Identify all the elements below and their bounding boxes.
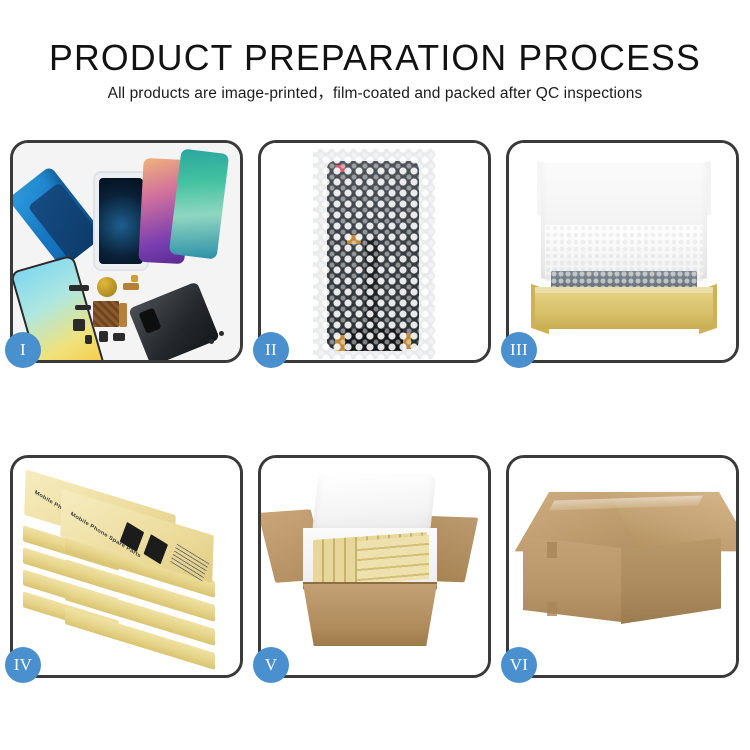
camera-module-icon — [73, 319, 85, 331]
screw-2-icon — [209, 339, 214, 344]
step-badge-3: III — [501, 332, 537, 368]
gold-box-tray-icon — [535, 293, 713, 329]
step-panel-3[interactable]: III — [506, 140, 739, 363]
small-part-icon — [69, 285, 89, 291]
step-panel-6[interactable]: VI — [506, 455, 739, 678]
step-badge-5: V — [253, 647, 289, 683]
step-image-6 — [509, 458, 736, 675]
screw-3-icon — [219, 331, 224, 336]
step-panel-1[interactable]: I — [10, 140, 243, 363]
step-image-3 — [509, 143, 736, 360]
steps-grid: I II — [10, 140, 740, 685]
carton-seam-top-icon — [547, 542, 557, 558]
step-badge-4: IV — [5, 647, 41, 683]
step-panel-4[interactable]: Mobile Phone Spare Parts Mobile Phone Sp… — [10, 455, 243, 678]
product-preparation-infographic: PRODUCT PREPARATION PROCESS All products… — [0, 0, 750, 750]
vibrator-icon — [113, 333, 125, 341]
connector-icon — [75, 305, 91, 310]
flex-cable-icon — [123, 283, 139, 290]
step-badge-6: VI — [501, 647, 537, 683]
shipping-carton — [523, 492, 721, 642]
step-image-2 — [261, 143, 488, 360]
box-artwork-icon — [143, 534, 168, 564]
page-subtitle: All products are image-printed，film-coat… — [0, 86, 750, 102]
screw-icon — [131, 275, 138, 282]
step-panel-2[interactable]: II — [258, 140, 491, 363]
phone-back-cover-icon — [128, 281, 220, 360]
carton-front-icon — [303, 584, 437, 646]
step-image-4: Mobile Phone Spare Parts Mobile Phone Sp… — [13, 458, 240, 675]
flex-cable-2-icon — [119, 303, 127, 327]
bubble-wrap-highlight-icon — [311, 145, 439, 360]
button-part-icon — [85, 335, 92, 344]
step-badge-2: II — [253, 332, 289, 368]
step-image-1 — [13, 143, 240, 360]
box-stack: Mobile Phone Spare Parts Mobile Phone Sp… — [21, 474, 233, 664]
step-image-5 — [261, 458, 488, 675]
circuit-board-icon — [93, 301, 119, 327]
carton-seam-bottom-icon — [547, 602, 557, 616]
page-title: PRODUCT PREPARATION PROCESS — [4, 40, 747, 76]
step-panel-5[interactable]: V — [258, 455, 491, 678]
step-badge-1: I — [5, 332, 41, 368]
gold-boxes-inside-2-icon — [357, 535, 429, 585]
carton-face-right-icon — [621, 538, 721, 624]
battery-part-icon — [99, 331, 108, 342]
foam-lid-icon — [312, 474, 437, 536]
carton-face-left-icon — [523, 536, 621, 622]
speaker-coin-icon — [97, 277, 117, 297]
